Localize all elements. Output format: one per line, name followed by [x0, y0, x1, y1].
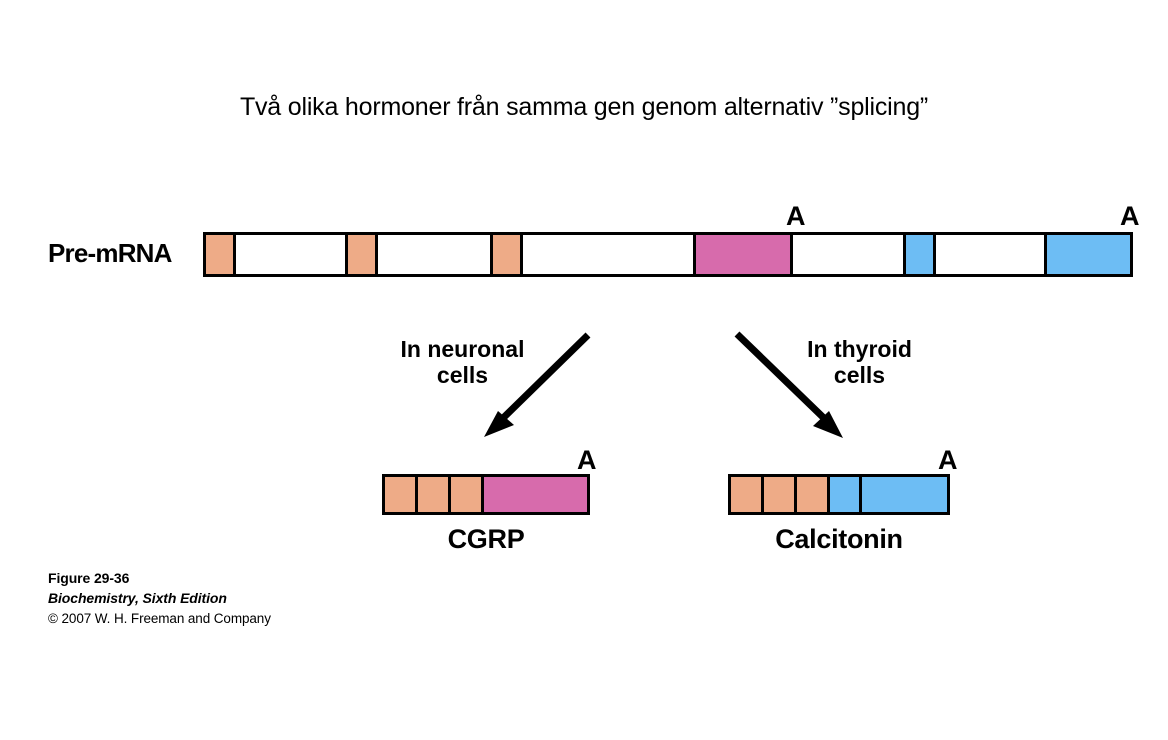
transcript-segment-intron-4: [793, 235, 906, 274]
credit-figure-number: Figure 29-36: [48, 569, 271, 589]
transcript-segment-exon-1: [206, 235, 236, 274]
calcitonin-mrna-bar: [728, 474, 950, 515]
transcript-segment-exon-6-calcitonin: [862, 477, 947, 512]
neuronal-caption-line-1: In neuronal: [380, 337, 545, 363]
transcript-segment-exon-2: [764, 477, 797, 512]
neuronal-caption-line-2: cells: [380, 363, 545, 389]
transcript-segment-exon-4-cgrp: [696, 235, 794, 274]
polya-site-marker-cgrp: A: [786, 203, 806, 230]
transcript-segment-exon-1: [731, 477, 764, 512]
credit-book-title: Biochemistry, Sixth Edition: [48, 589, 271, 609]
cgrp-product-label: CGRP: [382, 524, 590, 555]
transcript-segment-exon-5-calcitonin: [830, 477, 862, 512]
cgrp-mrna-bar: [382, 474, 590, 515]
polya-site-marker-calcitonin: A: [1120, 203, 1140, 230]
thyroid-caption-line-2: cells: [787, 363, 932, 389]
transcript-segment-exon-2: [348, 235, 378, 274]
neuronal-pathway-caption: In neuronal cells: [380, 337, 545, 389]
transcript-segment-exon-3: [797, 477, 830, 512]
transcript-segment-exon-3: [451, 477, 484, 512]
transcript-segment-exon-4-cgrp: [484, 477, 587, 512]
premrna-transcript-bar: [203, 232, 1133, 277]
thyroid-caption-line-1: In thyroid: [787, 337, 932, 363]
thyroid-pathway-caption: In thyroid cells: [787, 337, 932, 389]
transcript-segment-intron-1: [236, 235, 349, 274]
figure-credit: Figure 29-36 Biochemistry, Sixth Edition…: [48, 569, 271, 628]
calcitonin-product-label: Calcitonin: [718, 524, 960, 555]
transcript-segment-exon-1: [385, 477, 418, 512]
transcript-segment-exon-2: [418, 477, 451, 512]
polya-site-marker-cgrp-mrna: A: [577, 447, 597, 474]
transcript-segment-exon-6-calcitonin: [1047, 235, 1130, 274]
transcript-segment-intron-2: [378, 235, 493, 274]
transcript-segment-intron-5: [936, 235, 1048, 274]
polya-site-marker-calcitonin-mrna: A: [938, 447, 958, 474]
premrna-label: Pre-mRNA: [48, 238, 172, 269]
credit-copyright: © 2007 W. H. Freeman and Company: [48, 609, 271, 628]
page-title: Två olika hormoner från samma gen genom …: [0, 93, 1168, 122]
transcript-segment-exon-5-calcitonin: [906, 235, 936, 274]
transcript-segment-intron-3: [523, 235, 696, 274]
transcript-segment-exon-3: [493, 235, 523, 274]
